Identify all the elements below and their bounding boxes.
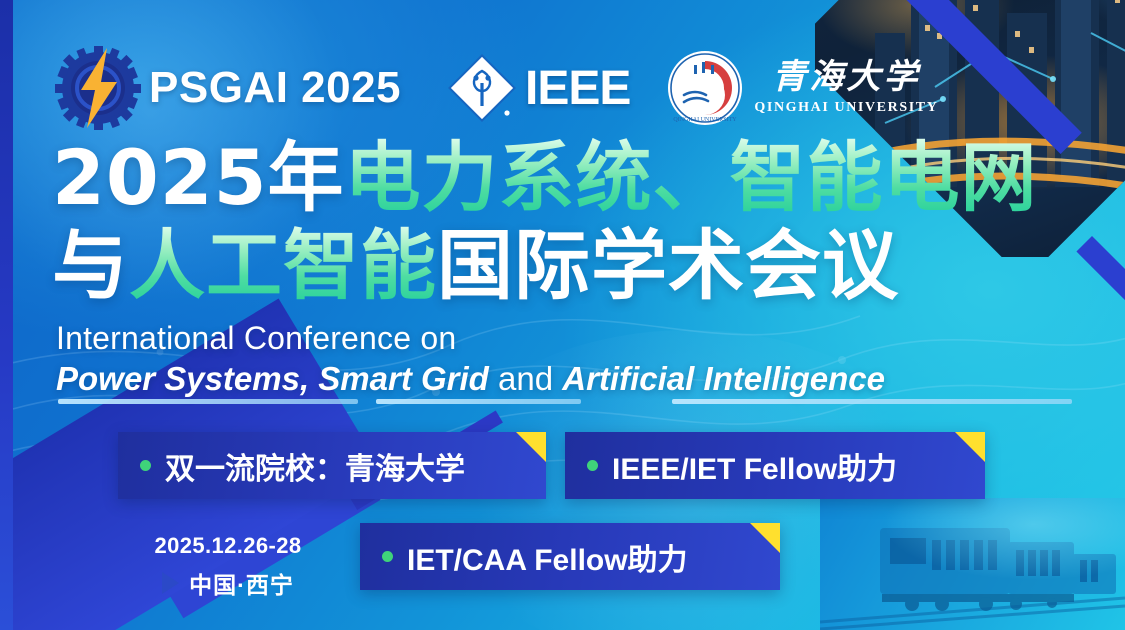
qinghai-en-name: QINGHAI UNIVERSITY [754, 100, 938, 116]
title-en-line-1: International Conference on [56, 320, 456, 357]
event-date: 2025.12.26-28 [118, 533, 338, 559]
train-photo [820, 498, 1125, 630]
bullet-dot-icon [382, 551, 393, 562]
svg-text:QINGHAI UNIVERSITY: QINGHAI UNIVERSITY [674, 117, 738, 123]
psgai-gear-bolt-icon [55, 46, 141, 130]
title-underline-1 [58, 399, 358, 404]
title-en-line-2: Power Systems, Smart Grid and Artificial… [56, 360, 885, 398]
title-en-part-2: Artificial Intelligence [562, 360, 885, 397]
psgai-wordmark: PSGAI 2025 [149, 63, 401, 113]
title-en-part-1: Power Systems, Smart Grid [56, 360, 489, 397]
title-cn-year: 2025年 [52, 133, 345, 222]
title-en-joiner: and [489, 360, 562, 397]
bullet-dot-icon [587, 460, 598, 471]
conference-banner: PSGAI 2025 IEEE [0, 0, 1125, 630]
bullet-dot-icon [140, 460, 151, 471]
corner-triangle-icon [750, 523, 780, 553]
title-cn-topics: 电力系统、智能电网 [345, 133, 1038, 222]
feature-badge-university[interactable]: 双一流院校：青海大学 [118, 432, 546, 499]
qinghai-university-logo: QINGHAI UNIVERSITY 青海大学 QINGHAI UNIVERSI… [666, 49, 938, 127]
corner-triangle-icon [516, 432, 546, 462]
title-cn-ai: 人工智能 [129, 221, 437, 310]
left-edge-strip [0, 0, 13, 630]
event-location: 中国·西宁 [189, 566, 294, 600]
logo-row: PSGAI 2025 IEEE [55, 44, 938, 132]
title-cn-line-1: 2025年电力系统、智能电网 [52, 140, 1038, 216]
feature-badge-label: IEEE/IET Fellow助力 [612, 444, 897, 488]
event-date-block: 2025.12.26-28 中国·西宁 [118, 533, 338, 600]
title-cn-suffix: 国际学术会议 [437, 221, 899, 310]
feature-badge-label: 双一流院校：青海大学 [165, 444, 465, 488]
title-cn-line-2: 与人工智能国际学术会议 [52, 228, 899, 304]
ieee-diamond-icon [445, 51, 519, 125]
ieee-logo: IEEE [445, 51, 630, 125]
play-triangle-icon [162, 572, 179, 594]
feature-badge-label: IET/CAA Fellow助力 [407, 535, 688, 579]
qinghai-cn-name: 青海大学 [772, 61, 920, 95]
title-underline-2 [376, 399, 581, 404]
ieee-wordmark: IEEE [525, 61, 630, 116]
corner-triangle-icon [955, 432, 985, 462]
title-cn-conj: 与 [52, 221, 129, 310]
feature-badge-ieee-iet[interactable]: IEEE/IET Fellow助力 [565, 432, 985, 499]
qinghai-seal-icon: QINGHAI UNIVERSITY [666, 49, 744, 127]
title-underline-3 [672, 399, 1072, 404]
feature-badge-iet-caa[interactable]: IET/CAA Fellow助力 [360, 523, 780, 590]
